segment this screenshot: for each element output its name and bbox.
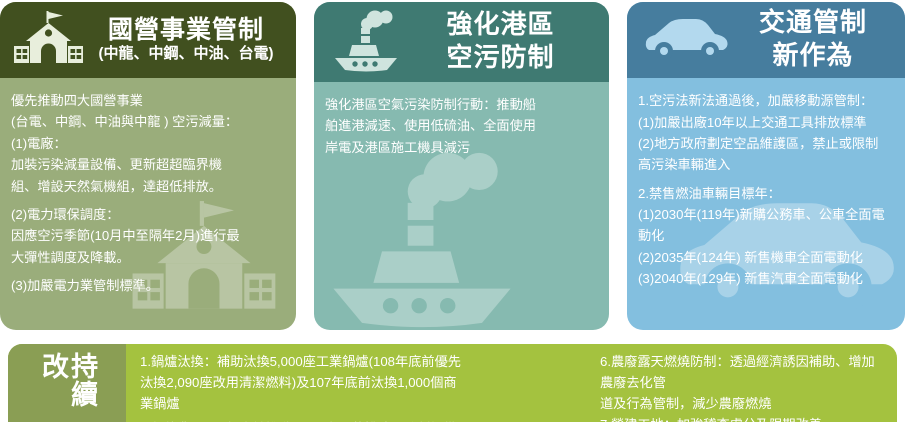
bar-vertical-label: 持續改 xyxy=(8,344,126,422)
body-line: 加裝污染減量設備、更新超超臨界機 xyxy=(11,154,285,175)
card-header-state-enterprise: 國營事業管制 (中龍、中鋼、中油、台電) xyxy=(0,2,296,78)
body-line: 2.禁售燃油車輛目標年： xyxy=(638,183,894,204)
bar-line: 汰換2,090座改用清潔燃料)及107年底前汰換1,000個商 xyxy=(140,373,582,394)
card-header-port-air-pollution: 強化港區 空污防制 xyxy=(314,2,609,82)
body-line: 岸電及港區施工機具減污 xyxy=(325,137,598,158)
card-title-line2: 空污防制 xyxy=(404,43,597,72)
bar-line: 道及行為管制，減少農廢燃燒 xyxy=(600,394,887,415)
card-header-text: 交通管制 新作為 xyxy=(733,8,897,70)
bar-label-text: 持續改 xyxy=(38,352,96,422)
card-traffic-control: 交通管制 新作為 1.空污法新法通過後，加嚴移動源管制： (1)加嚴出廠10年以… xyxy=(627,2,905,330)
spacer xyxy=(11,197,285,204)
body-line: 因應空污季節(10月中至隔年2月)進行最 xyxy=(11,225,285,246)
body-line: (2)地方政府劃定空品維護區，禁止或限制 xyxy=(638,133,894,154)
bar-column-left: 1.鍋爐汰換：補助汰換5,000座工業鍋爐(108年底前優先 汰換2,090座改… xyxy=(140,352,582,422)
body-line: (3)2040年(129年) 新售汽車全面電動化 xyxy=(638,268,894,289)
body-line: 高污染車輛進入 xyxy=(638,154,894,175)
bar-line: 2.餐飲業：108年底前推動7,000家加裝排油煙防制設備 xyxy=(140,419,582,422)
card-body-port-air-pollution: 強化港區空氣污染防制行動：推動船 舶進港減速、使用低硫油、全面使用 岸電及港區施… xyxy=(314,82,609,330)
body-line: 優先推動四大國營事業 xyxy=(11,90,285,111)
infographic-page: 國營事業管制 (中龍、中鋼、中油、台電) 優先推動四大國營事業 (台電、中鋼、中… xyxy=(0,0,905,422)
bar-columns: 1.鍋爐汰換：補助汰換5,000座工業鍋爐(108年底前優先 汰換2,090座改… xyxy=(126,344,897,422)
body-line: (1)電廠： xyxy=(11,133,285,154)
card-subtitle: (中龍、中鋼、中油、台電) xyxy=(88,46,284,63)
body-line: (3)加嚴電力業管制標準。 xyxy=(11,275,285,296)
government-building-icon xyxy=(10,8,88,70)
card-title: 強化港區 xyxy=(404,10,597,39)
card-title-line2: 新作為 xyxy=(733,41,893,70)
body-line: (2)電力環保調度： xyxy=(11,204,285,225)
body-line: 組、增設天然氣機組，達超低排放。 xyxy=(11,176,285,197)
bar-line: 1.鍋爐汰換：補助汰換5,000座工業鍋爐(108年底前優先 xyxy=(140,352,582,373)
car-icon xyxy=(641,9,733,69)
bar-line: 6.農廢露天燃燒防制：透過經濟誘因補助、增加農廢去化管 xyxy=(600,352,887,394)
bar-column-right: 6.農廢露天燃燒防制：透過經濟誘因補助、增加農廢去化管 道及行為管制，減少農廢燃… xyxy=(600,352,887,422)
ship-smoke-icon xyxy=(328,8,404,74)
card-title: 國營事業管制 xyxy=(88,16,284,44)
body-line: (2)2035年(124年) 新售機車全面電動化 xyxy=(638,247,894,268)
body-line: 動化 xyxy=(638,225,894,246)
body-line: 強化港區空氣污染防制行動：推動船 xyxy=(325,94,598,115)
body-line: 舶進港減速、使用低硫油、全面使用 xyxy=(325,115,598,136)
continuous-improvement-bar: 持續改 1.鍋爐汰換：補助汰換5,000座工業鍋爐(108年底前優先 汰換2,0… xyxy=(8,344,897,422)
spacer xyxy=(638,176,894,183)
card-header-text: 國營事業管制 (中龍、中鋼、中油、台電) xyxy=(88,16,288,63)
body-line: 1.空污法新法通過後，加嚴移動源管制： xyxy=(638,90,894,111)
body-line: 大彈性調度及降載。 xyxy=(11,247,285,268)
cards-row: 國營事業管制 (中龍、中鋼、中油、台電) 優先推動四大國營事業 (台電、中鋼、中… xyxy=(0,0,905,330)
bar-line: 業鍋爐 xyxy=(140,394,582,415)
card-header-traffic-control: 交通管制 新作為 xyxy=(627,2,905,78)
card-title: 交通管制 xyxy=(733,8,893,37)
card-state-enterprise: 國營事業管制 (中龍、中鋼、中油、台電) 優先推動四大國營事業 (台電、中鋼、中… xyxy=(0,2,296,330)
body-line: (1)加嚴出廠10年以上交通工具排放標準 xyxy=(638,112,894,133)
card-header-text: 強化港區 空污防制 xyxy=(404,10,601,72)
card-port-air-pollution: 強化港區 空污防制 強化港區空氣污染防制行動：推動船 舶進港減速、使用低硫油、全… xyxy=(314,2,609,330)
bar-line: 7.營建工地：加強稽查處分及限期改善 xyxy=(600,415,887,422)
spacer xyxy=(11,268,285,275)
card-body-traffic-control: 1.空污法新法通過後，加嚴移動源管制： (1)加嚴出廠10年以上交通工具排放標準… xyxy=(627,78,905,330)
body-line: (1)2030年(119年)新購公務車、公車全面電 xyxy=(638,204,894,225)
body-line: (台電、中鋼、中油與中龍 ) 空污減量： xyxy=(11,111,285,132)
card-body-state-enterprise: 優先推動四大國營事業 (台電、中鋼、中油與中龍 ) 空污減量： (1)電廠： 加… xyxy=(0,78,296,330)
